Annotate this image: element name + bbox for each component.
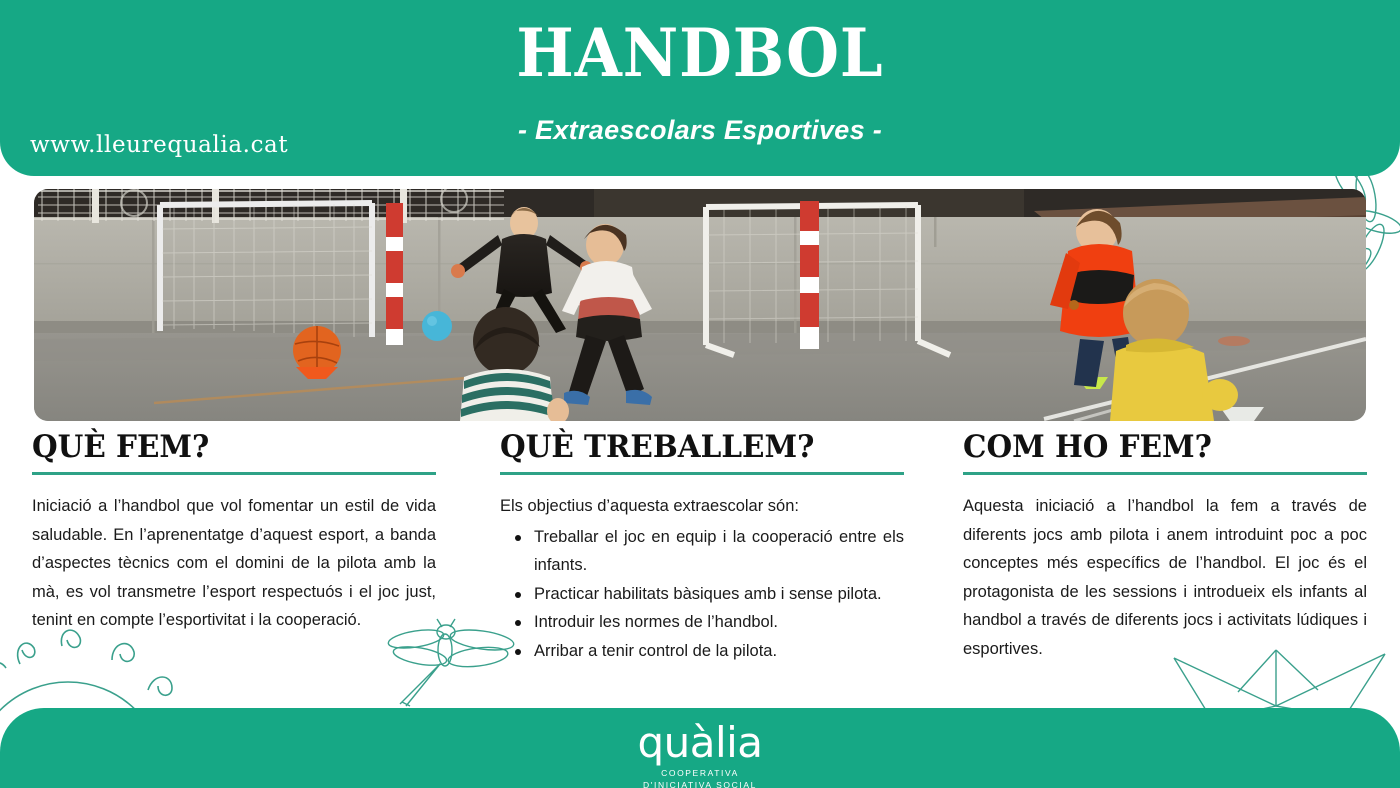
list-item: Arribar a tenir control de la pilota.	[534, 637, 904, 666]
list-item: Practicar habilitats bàsiques amb i sens…	[534, 580, 904, 609]
logo-wordmark-text: quàlia	[0, 722, 1400, 764]
poster-header: HANDBOL - Extraescolars Esportives - www…	[0, 0, 1400, 176]
poster-canvas: HANDBOL - Extraescolars Esportives - www…	[0, 0, 1400, 788]
column-que-treballem: QUÈ TREBALLEM? Els objectius d’aquesta e…	[500, 432, 904, 665]
hero-photo-scene	[34, 189, 1366, 421]
logo-tagline-line-2: D'INICIATIVA SOCIAL	[0, 779, 1400, 788]
page-title: HANDBOL	[56, 18, 1344, 89]
qualia-logo: quàlia COOPERATIVA D'INICIATIVA SOCIAL	[0, 722, 1400, 788]
column-heading: QUÈ TREBALLEM?	[500, 432, 884, 463]
column-heading: QUÈ FEM?	[32, 432, 416, 463]
column-rule	[500, 472, 904, 475]
column-que-fem: QUÈ FEM? Iniciació a l’handbol que vol f…	[32, 432, 436, 635]
hero-photo	[34, 189, 1366, 421]
column-com-ho-fem: COM HO FEM? Aquesta iniciació a l’handbo…	[963, 432, 1367, 663]
column-heading: COM HO FEM?	[963, 432, 1347, 463]
column-body-text: Aquesta iniciació a l’handbol la fem a t…	[963, 492, 1367, 663]
column-rule	[963, 472, 1367, 475]
logo-tagline-line-1: COOPERATIVA	[0, 767, 1400, 779]
column-rule	[32, 472, 436, 475]
column-intro-text: Els objectius d’aquesta extraescolar són…	[500, 492, 904, 521]
content-columns: QUÈ FEM? Iniciació a l’handbol que vol f…	[0, 432, 1400, 710]
site-url-text: www.lleurequalia.cat	[30, 132, 288, 158]
list-item: Introduir les normes de l’handbol.	[534, 608, 904, 637]
objectives-list: Treballar el joc en equip i la cooperaci…	[500, 523, 904, 666]
poster-footer: quàlia COOPERATIVA D'INICIATIVA SOCIAL	[0, 708, 1400, 788]
column-body-text: Iniciació a l’handbol que vol fomentar u…	[32, 492, 436, 635]
list-item: Treballar el joc en equip i la cooperaci…	[534, 523, 904, 580]
logo-tagline: COOPERATIVA D'INICIATIVA SOCIAL	[0, 767, 1400, 788]
